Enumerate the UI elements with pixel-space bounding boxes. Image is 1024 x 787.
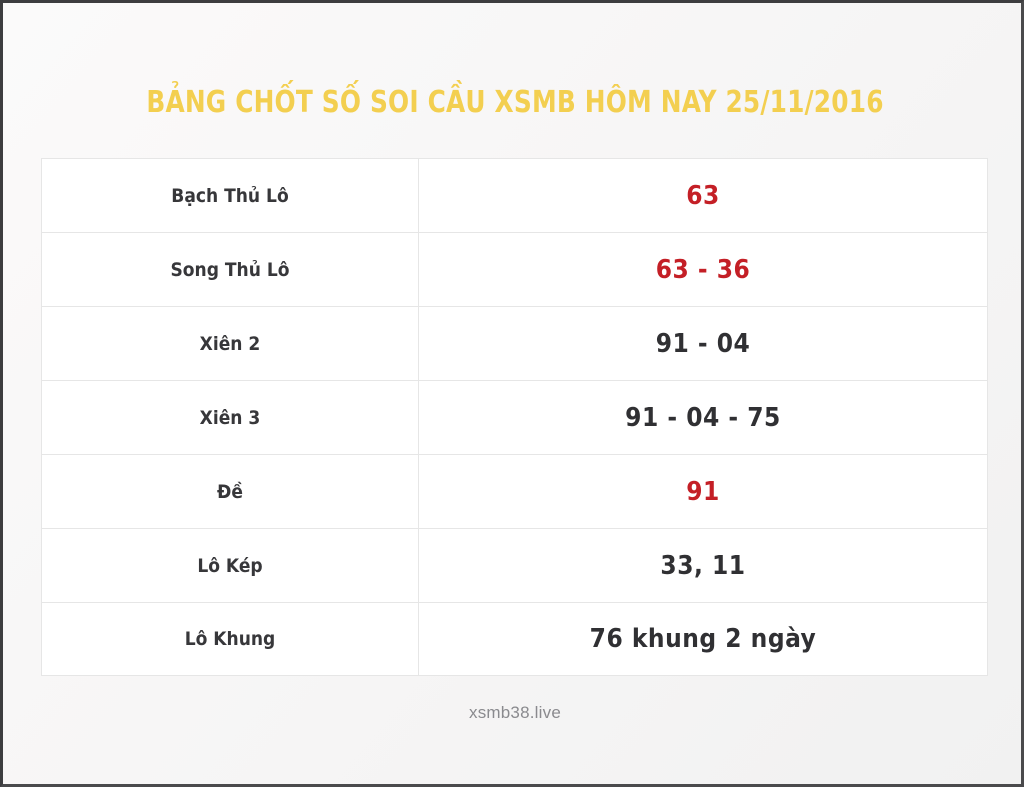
row-value-lo-khung: 76 khung 2 ngày — [419, 603, 987, 675]
row-value-song-thu-lo: 63 - 36 — [419, 233, 987, 306]
row-label-lo-khung: Lô Khung — [42, 603, 419, 675]
row-value-lo-kep: 33, 11 — [419, 529, 987, 602]
row-label-lo-kep: Lô Kép — [42, 529, 419, 602]
table-row: Xiên 2 91 - 04 — [41, 306, 988, 380]
table-row: Song Thủ Lô 63 - 36 — [41, 232, 988, 306]
row-label-bach-thu-lo: Bạch Thủ Lô — [42, 159, 419, 232]
row-label-song-thu-lo: Song Thủ Lô — [42, 233, 419, 306]
table-row: Xiên 3 91 - 04 - 75 — [41, 380, 988, 454]
page-canvas: BẢNG CHỐT SỐ SOI CẦU XSMB HÔM NAY 25/11/… — [0, 0, 1024, 787]
table-row: Lô Khung 76 khung 2 ngày — [41, 602, 988, 676]
prediction-table: Bạch Thủ Lô 63 Song Thủ Lô 63 - 36 Xiên … — [41, 158, 988, 676]
row-value-bach-thu-lo: 63 — [419, 159, 987, 232]
row-label-xien-2: Xiên 2 — [42, 307, 419, 380]
page-title: BẢNG CHỐT SỐ SOI CẦU XSMB HÔM NAY 25/11/… — [44, 85, 986, 120]
row-value-de: 91 — [419, 455, 987, 528]
site-watermark: xsmb38.live — [3, 703, 1024, 723]
row-label-xien-3: Xiên 3 — [42, 381, 419, 454]
table-row: Đề 91 — [41, 454, 988, 528]
table-row: Lô Kép 33, 11 — [41, 528, 988, 602]
row-value-xien-3: 91 - 04 - 75 — [419, 381, 987, 454]
table-row: Bạch Thủ Lô 63 — [41, 158, 988, 232]
row-value-xien-2: 91 - 04 — [419, 307, 987, 380]
row-label-de: Đề — [42, 455, 419, 528]
